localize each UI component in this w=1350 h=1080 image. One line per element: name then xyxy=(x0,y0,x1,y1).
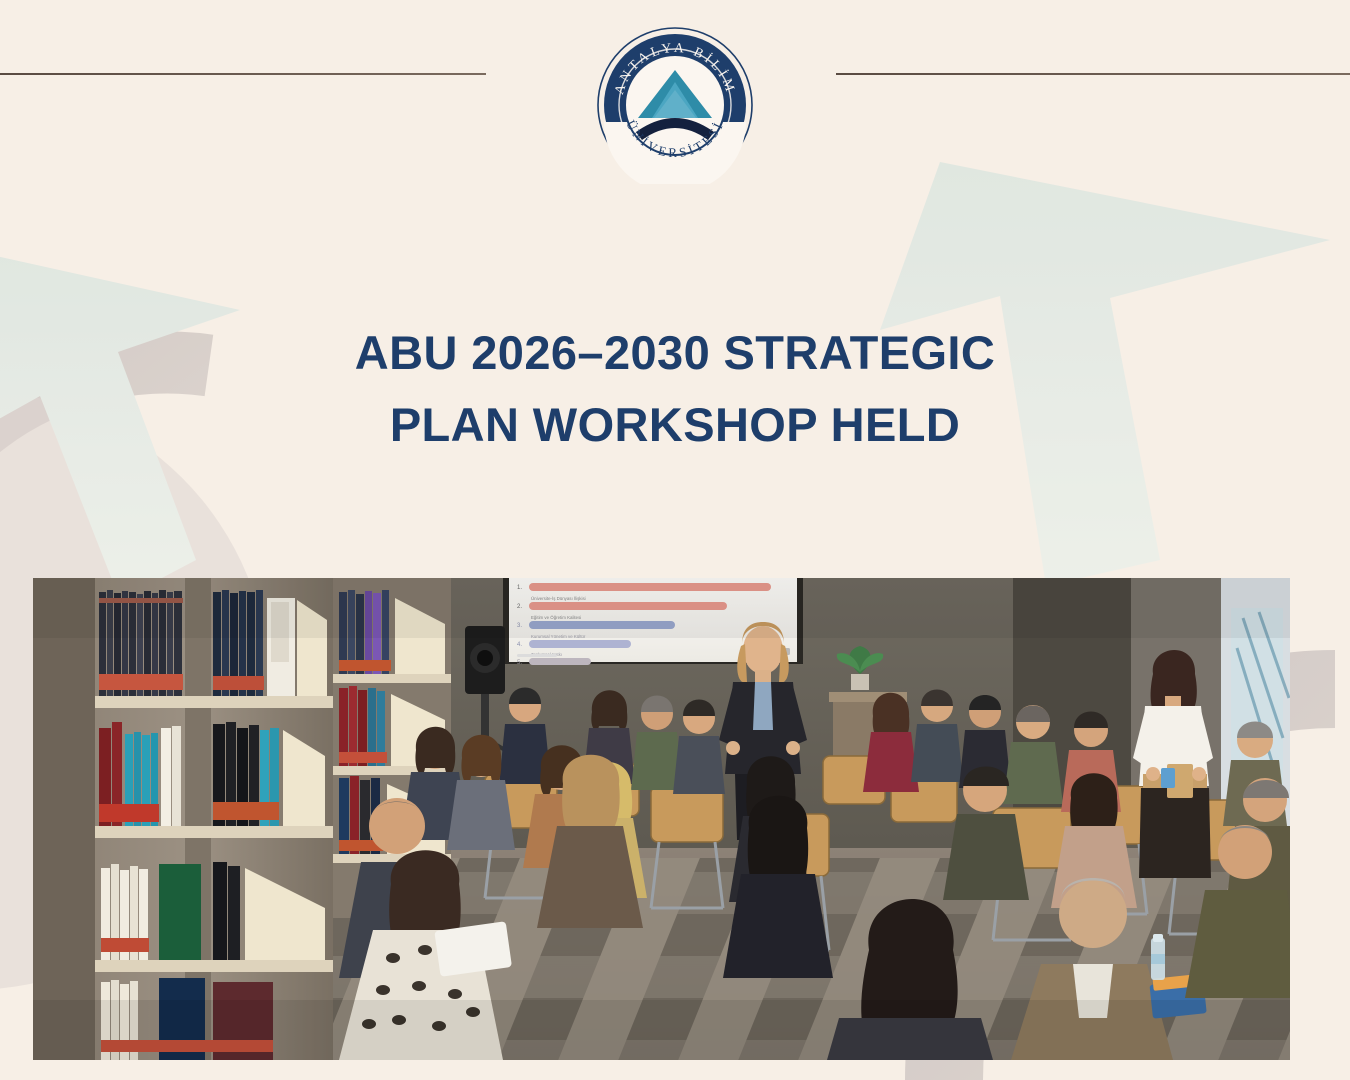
workshop-photograph: 1. Üniversite-İş Dünyası İlişkisi 2. Eği… xyxy=(33,578,1290,1060)
page-title: ABU 2026–2030 STRATEGIC PLAN WORKSHOP HE… xyxy=(0,317,1350,461)
poster-page: ANTALYA BİLİM ÜNİVERSİTESİ ABU 2026–2030… xyxy=(0,0,1350,1080)
svg-text:4.: 4. xyxy=(517,642,522,648)
page-title-line-1: ABU 2026–2030 STRATEGIC xyxy=(0,317,1350,389)
svg-text:5.: 5. xyxy=(517,660,522,666)
water-bottle xyxy=(1151,934,1165,980)
university-logo: ANTALYA BİLİM ÜNİVERSİTESİ xyxy=(596,26,754,184)
divider-rule-left xyxy=(0,73,486,75)
divider-rule-right xyxy=(836,73,1350,75)
page-title-line-2: PLAN WORKSHOP HELD xyxy=(0,389,1350,461)
photo-illustration: 1. Üniversite-İş Dünyası İlişkisi 2. Eği… xyxy=(33,578,1290,1060)
